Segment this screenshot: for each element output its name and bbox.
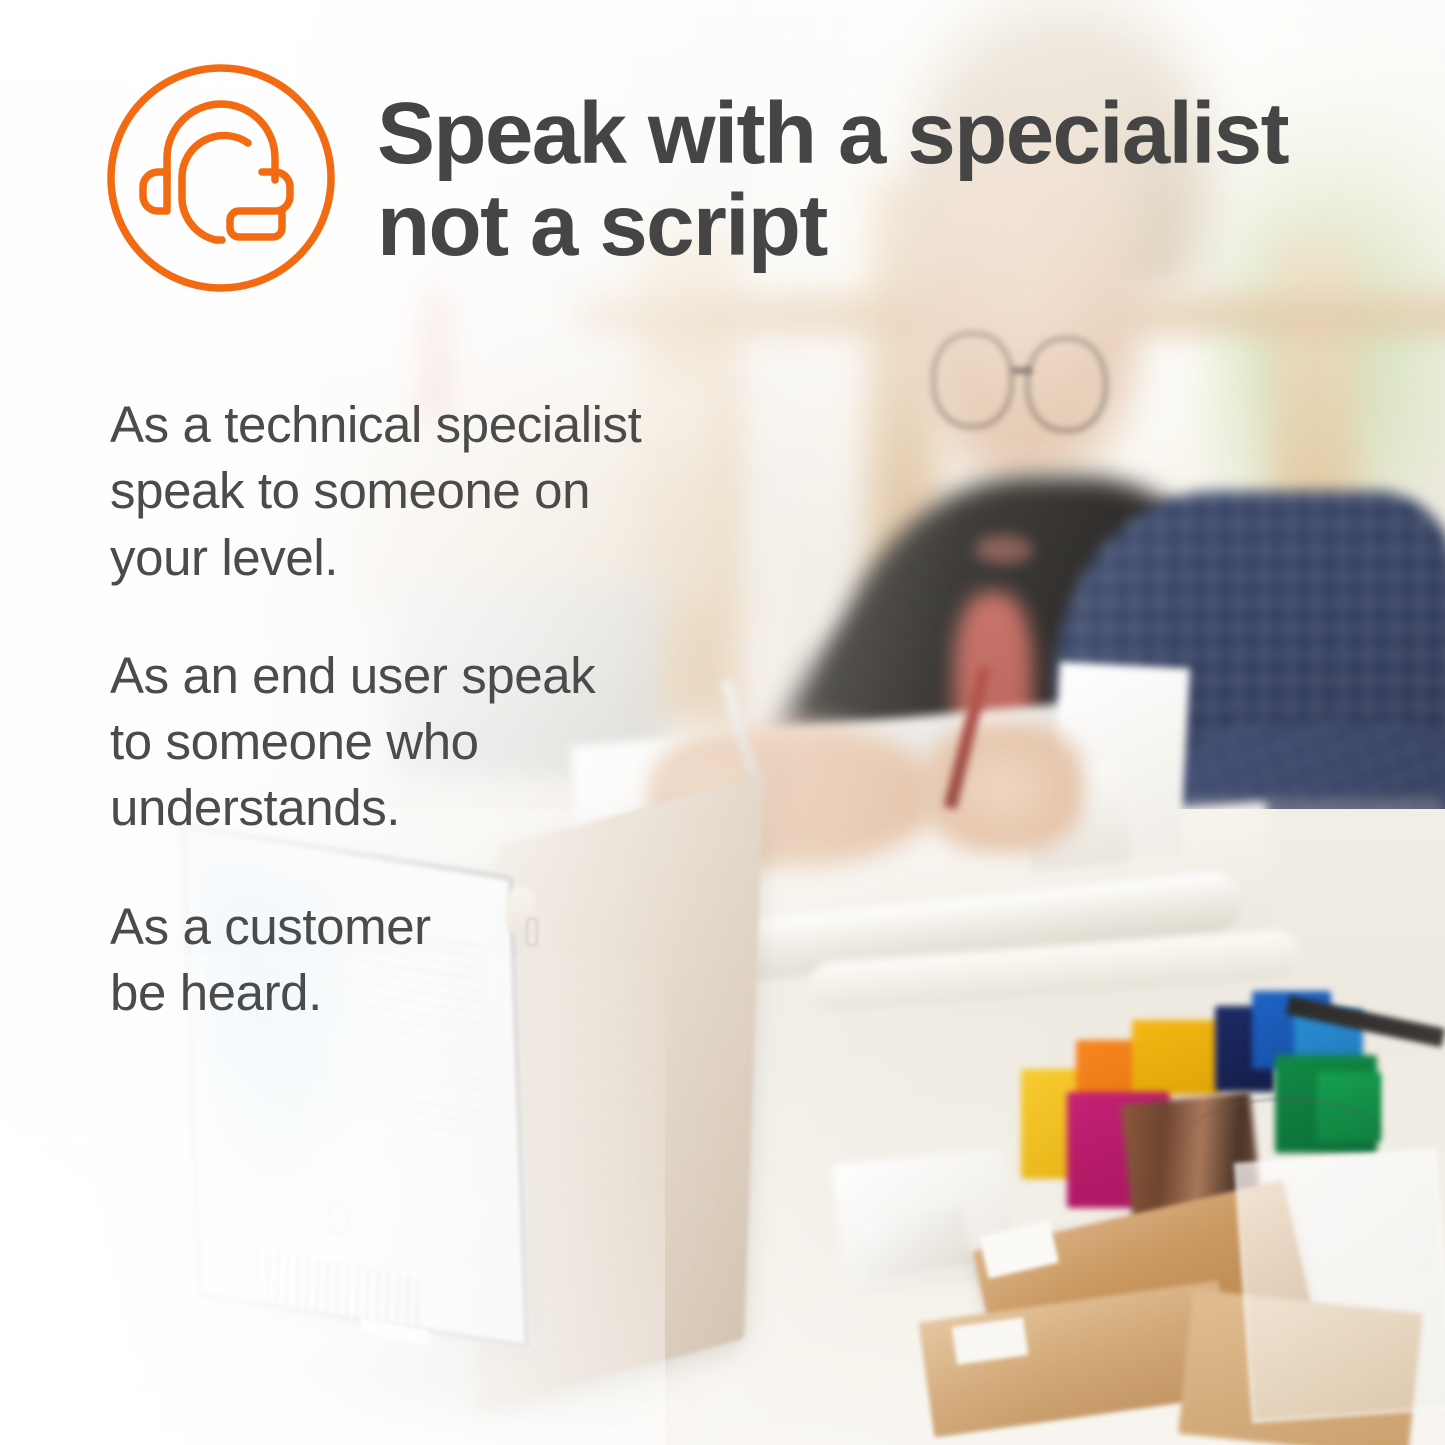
body-copy-block: As a technical specialist speak to someo… [110,392,830,1026]
banner-header: Speak with a specialist not a script [105,62,1288,294]
page-title: Speak with a specialist not a script [377,88,1288,272]
body-paragraph-end-user: As an end user speak to someone who unde… [110,643,830,842]
headset-support-circle-icon [105,62,337,294]
body-paragraph-customer: As a customer be heard. [110,894,830,1027]
promotional-banner: Speak with a specialist not a script As … [0,0,1445,1445]
banner-content: Speak with a specialist not a script As … [0,0,1445,1445]
body-paragraph-technical-specialist: As a technical specialist speak to someo… [110,392,830,591]
